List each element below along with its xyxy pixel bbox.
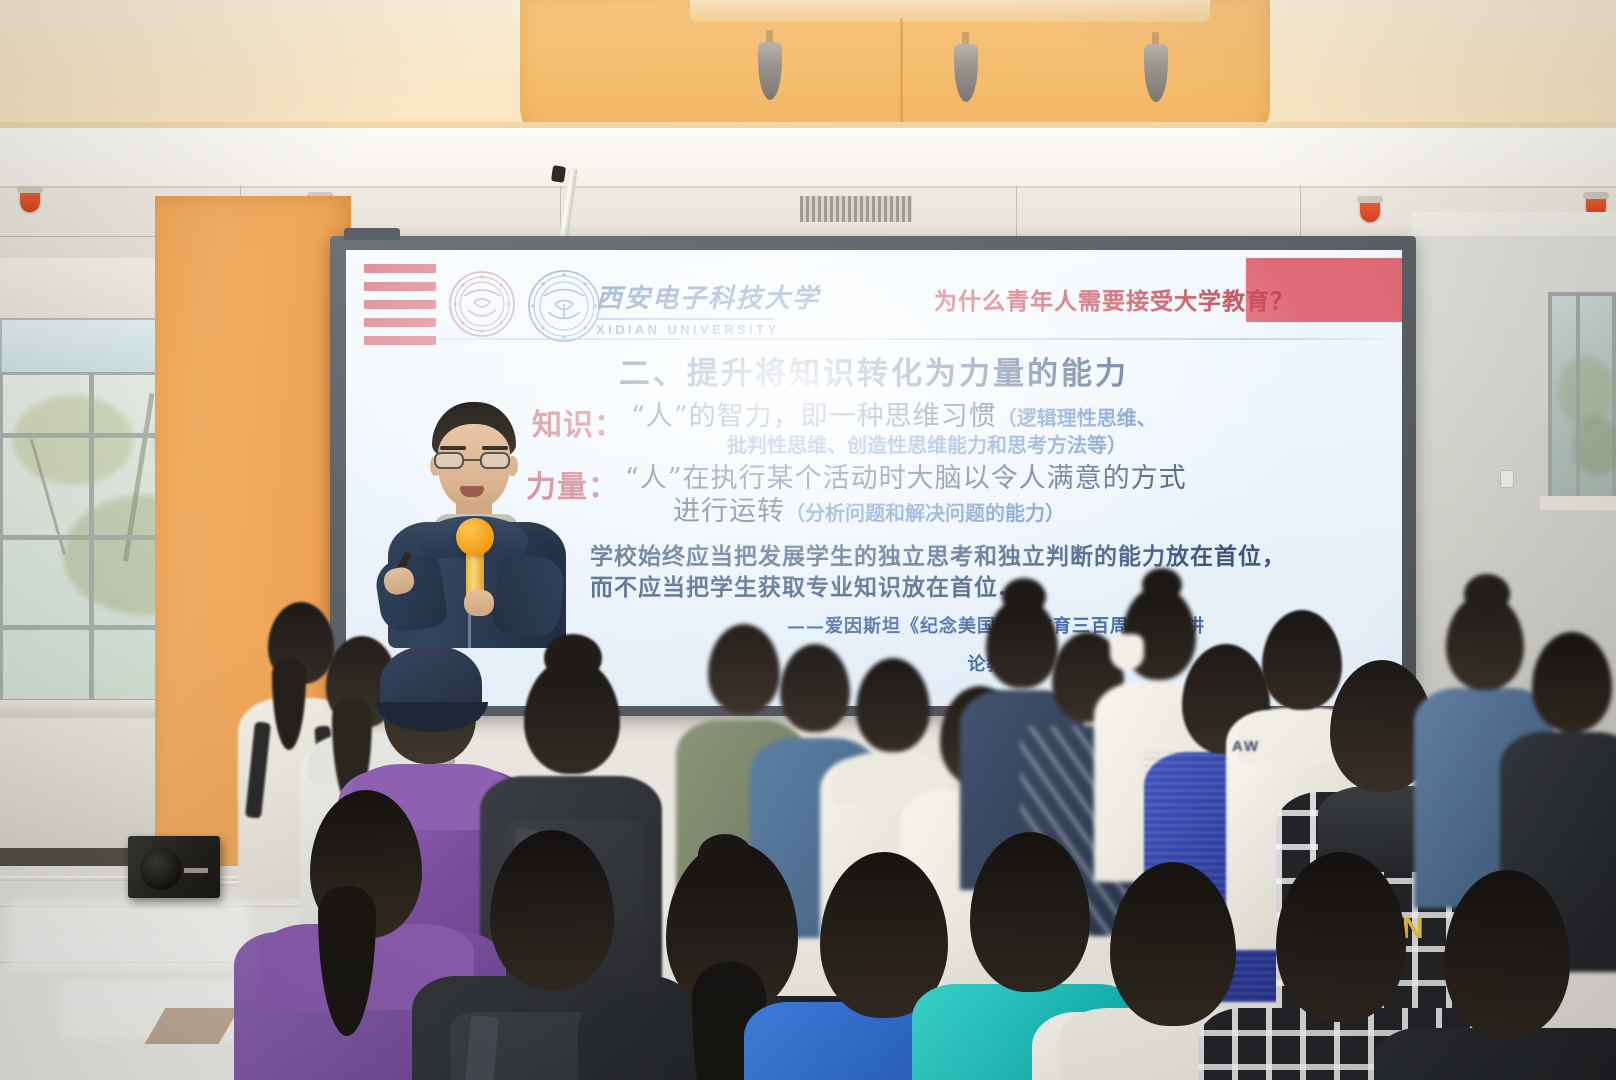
slide-topic-title: 为什么青年人需要接受大学教育？ bbox=[934, 282, 1294, 316]
university-seal-watermark bbox=[444, 266, 520, 342]
face-mask-icon bbox=[1110, 634, 1144, 670]
person-head bbox=[1532, 632, 1612, 732]
glasses-icon bbox=[434, 452, 516, 470]
point-value-main: “人”在执行某个活动时大脑以令人满意的方式 bbox=[625, 463, 1187, 494]
ceiling-white-band bbox=[0, 122, 1616, 196]
slide-header-divider bbox=[364, 338, 1402, 340]
soffit-lip bbox=[690, 0, 1210, 22]
right-window-sill bbox=[1540, 496, 1616, 510]
presenter-eyebrow bbox=[482, 446, 508, 450]
university-name-en: XIDIAN UNIVERSITY bbox=[596, 322, 820, 337]
point-value-line2-text: 进行运转 bbox=[673, 496, 785, 527]
point-value-knowledge: “人”的智力，即一种思维习惯（逻辑理性思维、 批判性思维、创造性思维能力和思考方… bbox=[631, 400, 1157, 458]
hair-bun bbox=[544, 634, 602, 682]
right-window bbox=[1548, 292, 1616, 500]
ceiling-vent bbox=[800, 196, 912, 222]
university-name-rule bbox=[596, 318, 774, 320]
point-annotation-power: （分析问题和解决问题的能力） bbox=[785, 501, 1065, 525]
point-value-main: “人”的智力，即一种思维习惯 bbox=[631, 401, 997, 432]
slide-section-title: 二、提升将知识转化为力量的能力 bbox=[346, 348, 1402, 393]
slide-point-knowledge: 知识： “人”的智力，即一种思维习惯（逻辑理性思维、 批判性思维、创造性思维能力… bbox=[532, 400, 1157, 458]
slide-point-power: 力量： “人”在执行某个活动时大脑以令人满意的方式 进行运转（分析问题和解决问题… bbox=[526, 462, 1187, 529]
point-annotation-line1: （逻辑理性思维、 bbox=[997, 406, 1157, 430]
person-head bbox=[856, 658, 930, 752]
person-head bbox=[708, 624, 780, 714]
point-value-power: “人”在执行某个活动时大脑以令人满意的方式 进行运转（分析问题和解决问题的能力） bbox=[625, 462, 1187, 529]
sprinkler-head bbox=[20, 190, 40, 212]
hair-bun bbox=[1142, 568, 1182, 602]
lecture-hall-photo: 西安电子科技大学 XIDIAN UNIVERSITY 为什么青年人需要接受大学教… bbox=[0, 0, 1616, 1080]
person-head bbox=[1262, 610, 1342, 710]
hair-scrunchie bbox=[698, 834, 752, 876]
screen-mount-bracket bbox=[344, 228, 400, 240]
garment-text-aw: AW bbox=[1232, 738, 1260, 755]
university-seal-logo bbox=[522, 264, 606, 348]
slide-stripe-decor bbox=[364, 264, 436, 354]
point-value-line2: 进行运转（分析问题和解决问题的能力） bbox=[673, 495, 1187, 528]
wall-switch bbox=[1500, 470, 1514, 488]
point-annotation-line2: 批判性思维、创造性思维能力和思考方法等） bbox=[727, 433, 1157, 458]
university-name-block: 西安电子科技大学 XIDIAN UNIVERSITY bbox=[596, 278, 820, 337]
person-head bbox=[780, 644, 850, 732]
ceiling-mic-tip bbox=[551, 165, 566, 183]
presenter-mouth bbox=[460, 486, 484, 497]
audience: AW ROLLIN STO bbox=[0, 540, 1616, 1080]
hair-bun bbox=[1002, 578, 1046, 616]
hair-bun bbox=[1464, 574, 1510, 614]
sprinkler-head bbox=[1360, 200, 1380, 222]
right-window-mullion bbox=[1576, 292, 1580, 500]
presenter-eyebrow bbox=[440, 446, 466, 450]
university-name-cn: 西安电子科技大学 bbox=[596, 278, 820, 315]
tile-grid-line bbox=[1016, 186, 1017, 240]
